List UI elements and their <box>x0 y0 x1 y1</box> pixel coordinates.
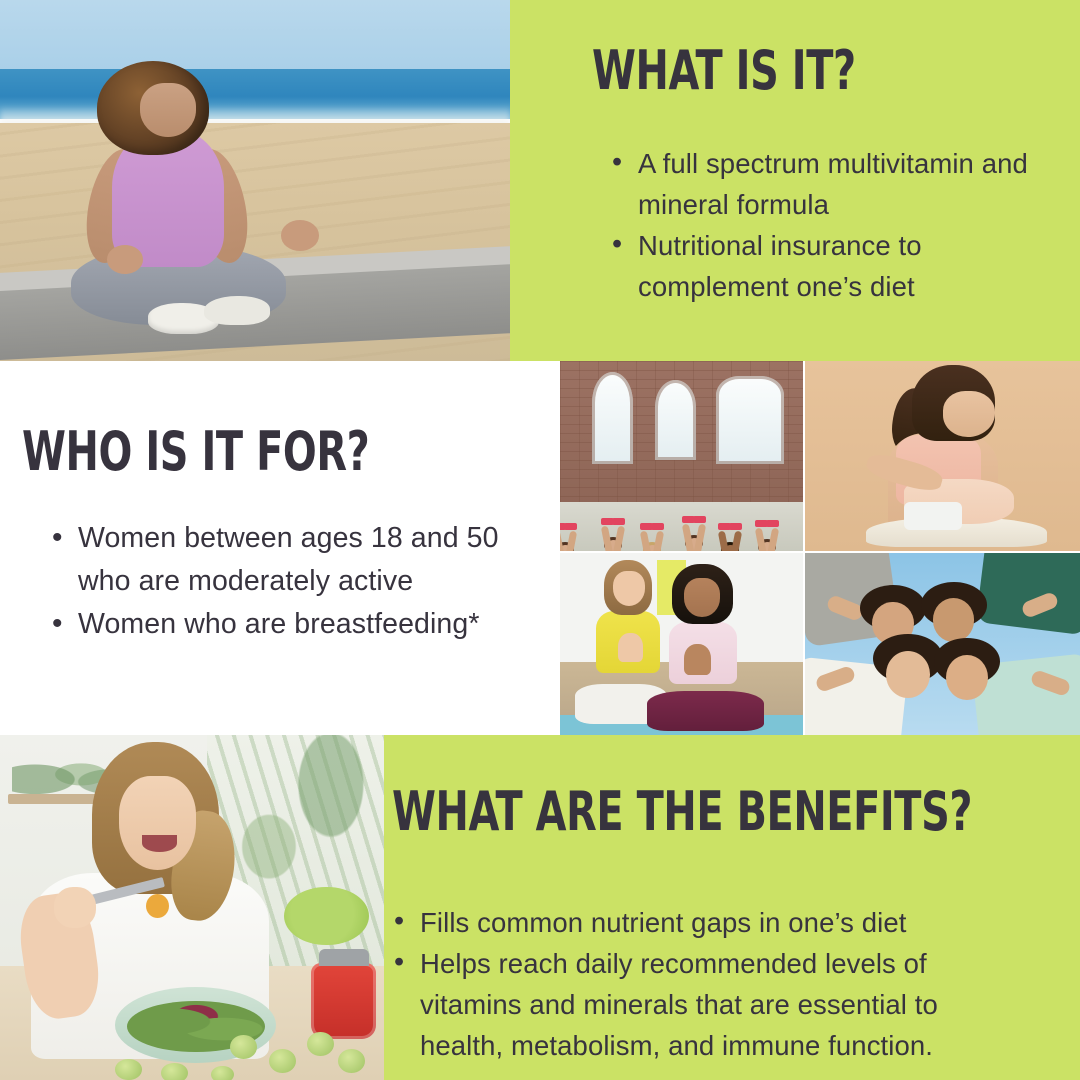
hand <box>54 887 96 928</box>
brussels-sprout <box>307 1032 334 1056</box>
what-is-it-bullet-list: A full spectrum multivitamin and mineral… <box>638 143 1042 307</box>
face <box>879 642 937 700</box>
red-teapot <box>311 963 376 1039</box>
gym-group-photo <box>560 361 803 551</box>
face <box>926 589 981 644</box>
brussels-sprout <box>338 1049 365 1073</box>
photo-grid <box>560 361 1080 735</box>
infographic-page: WHAT IS IT? A full spectrum multivitamin… <box>0 0 1080 1080</box>
benefits-bullet-list: Fills common nutrient gaps in one’s diet… <box>420 902 1020 1066</box>
woman-2-face <box>684 578 720 616</box>
food-on-fork <box>146 894 169 918</box>
section-benefits: WHAT ARE THE BENEFITS? Fills common nutr… <box>384 735 1080 1080</box>
baby-diaper <box>904 502 962 531</box>
beach-meditation-photo <box>0 0 510 361</box>
woman-eating-salad-photo <box>0 735 384 1080</box>
yoga-pair-photo <box>560 553 803 735</box>
teapot-lid <box>319 949 369 966</box>
who-is-it-for-heading: WHO IS IT FOR? <box>22 425 369 479</box>
brussels-sprout <box>269 1049 296 1073</box>
arched-window <box>655 380 696 460</box>
arched-window <box>716 376 784 463</box>
section-what-is-it: WHAT IS IT? A full spectrum multivitamin… <box>510 0 1080 361</box>
woman-1-face <box>613 571 645 606</box>
friends-huddle-photo <box>805 553 1080 735</box>
arched-window <box>592 372 633 463</box>
list-item: Helps reach daily recommended levels of … <box>420 943 1020 1066</box>
lettuce-head <box>284 887 368 946</box>
benefits-heading: WHAT ARE THE BENEFITS? <box>392 785 972 839</box>
who-is-it-for-bullet-list: Women between ages 18 and 50 who are mod… <box>78 517 518 646</box>
list-item: Women who are breastfeeding* <box>78 603 518 646</box>
list-item: Nutritional insurance to complement one’… <box>638 225 1042 307</box>
face <box>940 646 995 702</box>
list-item: A full spectrum multivitamin and mineral… <box>638 143 1042 225</box>
list-item: Fills common nutrient gaps in one’s diet <box>420 902 1020 943</box>
section-who-is-it-for: WHO IS IT FOR? Women between ages 18 and… <box>0 361 560 735</box>
brussels-sprout <box>211 1066 234 1080</box>
what-is-it-heading: WHAT IS IT? <box>592 44 856 98</box>
shirt <box>976 553 1080 636</box>
brussels-sprout <box>161 1063 188 1080</box>
right-shoe <box>204 296 270 325</box>
left-hand <box>107 245 143 274</box>
list-item: Women between ages 18 and 50 who are mod… <box>78 517 518 603</box>
face <box>119 776 196 869</box>
brussels-sprout <box>115 1059 142 1080</box>
right-hand <box>281 220 319 251</box>
breastfeeding-photo <box>805 361 1080 551</box>
woman-1-namaste-hands <box>618 633 642 662</box>
sky <box>0 0 510 79</box>
woman-2-maroon-pants <box>647 691 764 731</box>
woman-2-namaste-hands <box>684 644 711 675</box>
